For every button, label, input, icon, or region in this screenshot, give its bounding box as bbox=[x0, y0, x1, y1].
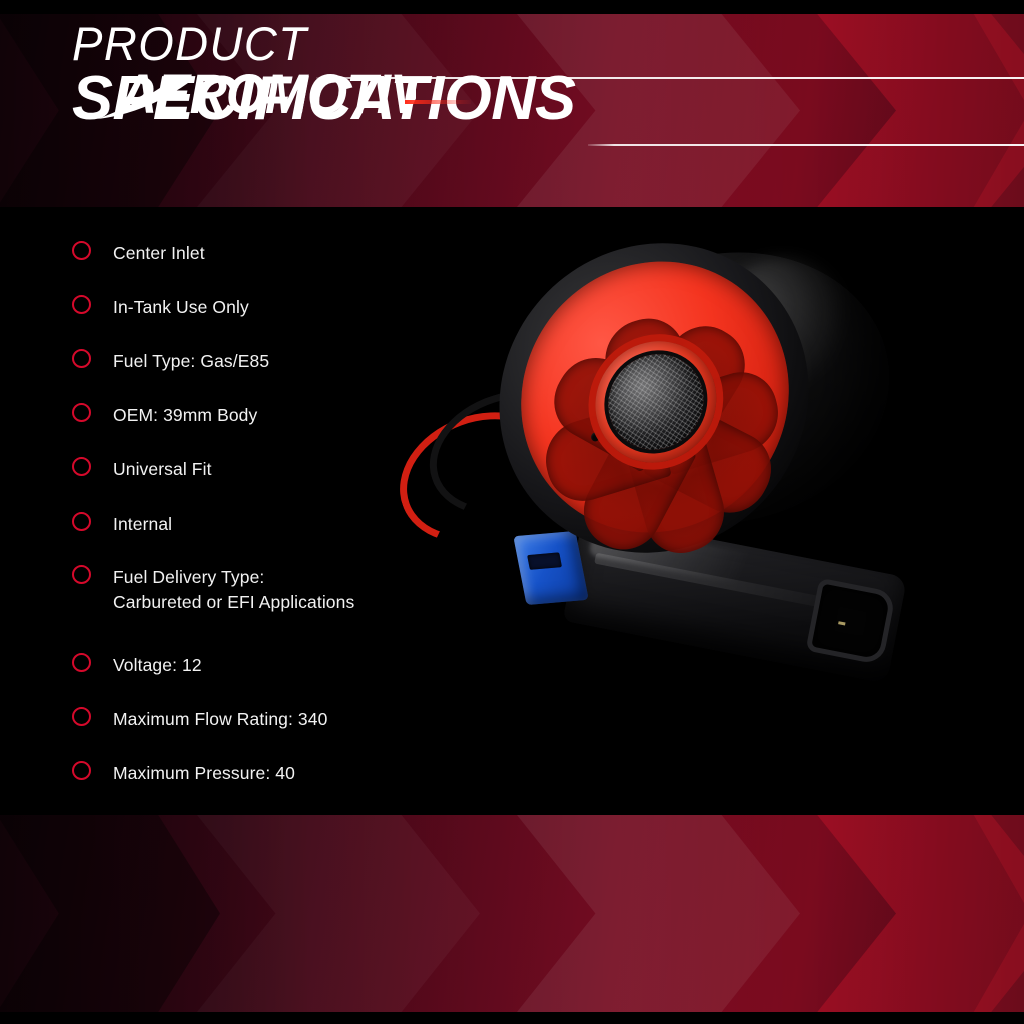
bullet-circle-icon bbox=[72, 241, 91, 260]
spec-label: In-Tank Use Only bbox=[113, 295, 249, 320]
bullet-circle-icon bbox=[72, 349, 91, 368]
product-photo bbox=[370, 215, 1024, 815]
spec-label: Universal Fit bbox=[113, 457, 212, 482]
bullet-circle-icon bbox=[72, 403, 91, 422]
footer-vignette bbox=[0, 815, 1024, 1012]
aeromotive-logo: AEROMOTIVE bbox=[96, 57, 416, 129]
spec-list-item: Universal Fit bbox=[0, 457, 212, 482]
aeromotive-wordmark: AEROMOTIVE bbox=[118, 63, 416, 125]
footer-banner bbox=[0, 815, 1024, 1012]
bullet-circle-icon bbox=[72, 761, 91, 780]
connector-blue bbox=[513, 531, 588, 605]
bullet-circle-icon bbox=[72, 653, 91, 672]
bullet-circle-icon bbox=[72, 457, 91, 476]
spec-list-item: In-Tank Use Only bbox=[0, 295, 249, 320]
spec-list-item: OEM: 39mm Body bbox=[0, 403, 257, 428]
bullet-circle-icon bbox=[72, 512, 91, 531]
bullet-circle-icon bbox=[72, 565, 91, 584]
spec-list-item: Center Inlet bbox=[0, 241, 205, 266]
spec-label: Maximum Flow Rating: 340 bbox=[113, 707, 327, 732]
spec-label: OEM: 39mm Body bbox=[113, 403, 257, 428]
spec-label-line2: Carbureted or EFI Applications bbox=[113, 590, 354, 615]
spec-label: Fuel Delivery Type:Carbureted or EFI App… bbox=[113, 565, 354, 615]
spec-label: Voltage: 12 bbox=[113, 653, 202, 678]
logo-accent-dash bbox=[405, 100, 471, 104]
spec-list-item: Maximum Pressure: 40 bbox=[0, 761, 295, 786]
spec-label: Fuel Type: Gas/E85 bbox=[113, 349, 269, 374]
bullet-circle-icon bbox=[72, 295, 91, 314]
connector-socket bbox=[806, 578, 897, 665]
spec-label: Center Inlet bbox=[113, 241, 205, 266]
spec-label: Internal bbox=[113, 512, 172, 537]
product-specifications-graphic: PRODUCT SPECIFICATIONS Center InletIn-Ta… bbox=[0, 0, 1024, 1024]
header-rule-bottom bbox=[588, 144, 1024, 146]
spec-label: Maximum Pressure: 40 bbox=[113, 761, 295, 786]
spec-list-item: Internal bbox=[0, 512, 172, 537]
spec-list-item: Voltage: 12 bbox=[0, 653, 202, 678]
spec-list-item: Maximum Flow Rating: 340 bbox=[0, 707, 327, 732]
bullet-circle-icon bbox=[72, 707, 91, 726]
spec-list-item: Fuel Type: Gas/E85 bbox=[0, 349, 269, 374]
spec-list-item: Fuel Delivery Type:Carbureted or EFI App… bbox=[0, 565, 354, 615]
